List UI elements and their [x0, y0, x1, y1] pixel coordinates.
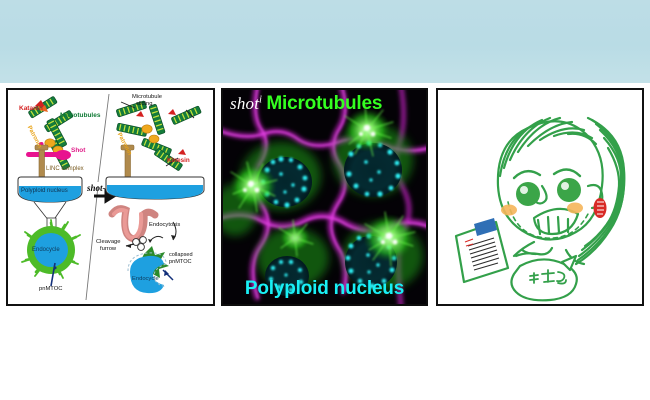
label-collapsed-1: collapsed: [169, 253, 193, 259]
gene-superscript: i: [259, 95, 262, 106]
panel-schematic-diagram: Katanin Microtubules Patronin Shot LINC …: [6, 88, 215, 306]
label-pnmtoc-left: pnMTOC: [39, 287, 62, 293]
label-endocytosis: Endocytosis: [149, 223, 180, 229]
speech-bubble: [511, 256, 576, 300]
left-cheek: [501, 205, 517, 216]
micrograph-image: [223, 90, 426, 304]
paper-document: [456, 218, 508, 282]
label-shot-mutant: shot-: [87, 184, 106, 193]
panel-cartoon-portrait: [436, 88, 644, 306]
channel-label-microtubules: Microtubules: [266, 93, 382, 114]
micrograph-top-label: shoti Microtubules: [230, 93, 382, 115]
left-eye: [516, 182, 540, 206]
panel-fluorescence-micrograph: shoti Microtubules Polyploid nucleus: [221, 88, 428, 306]
label-cleavage-2: furrow: [100, 247, 116, 253]
label-endocycle-left: Endocycle: [32, 247, 60, 253]
diagram-svg: [8, 90, 213, 304]
screenshot-canvas: Katanin Microtubules Patronin Shot LINC …: [0, 0, 650, 400]
label-microtubule-sliding-2: sliding: [136, 102, 152, 108]
top-banner: [0, 0, 650, 83]
label-shot: Shot: [71, 148, 85, 155]
label-linc-complex: LINC complex: [46, 166, 84, 172]
label-polyploid-nucleus-left: Polyploid nucleus: [21, 188, 68, 194]
right-eye: [557, 178, 581, 202]
diagram-canvas: Katanin Microtubules Patronin Shot LINC …: [8, 90, 213, 304]
gene-name-label: shot: [230, 94, 259, 113]
label-microtubules: Microtubules: [60, 113, 100, 120]
cartoon-canvas: [438, 90, 642, 304]
cartoon-svg: [438, 90, 642, 304]
label-collapsed-2: pnMTOC: [169, 260, 192, 266]
channel-label-polyploid-nucleus: Polyploid nucleus: [245, 278, 404, 300]
right-cheek: [567, 203, 583, 214]
label-endocycle-right: Endocycle: [132, 277, 159, 283]
label-kinesin: Kinesin: [167, 158, 190, 164]
red-seal: [594, 198, 607, 218]
label-katanin: Katanin: [19, 106, 43, 113]
